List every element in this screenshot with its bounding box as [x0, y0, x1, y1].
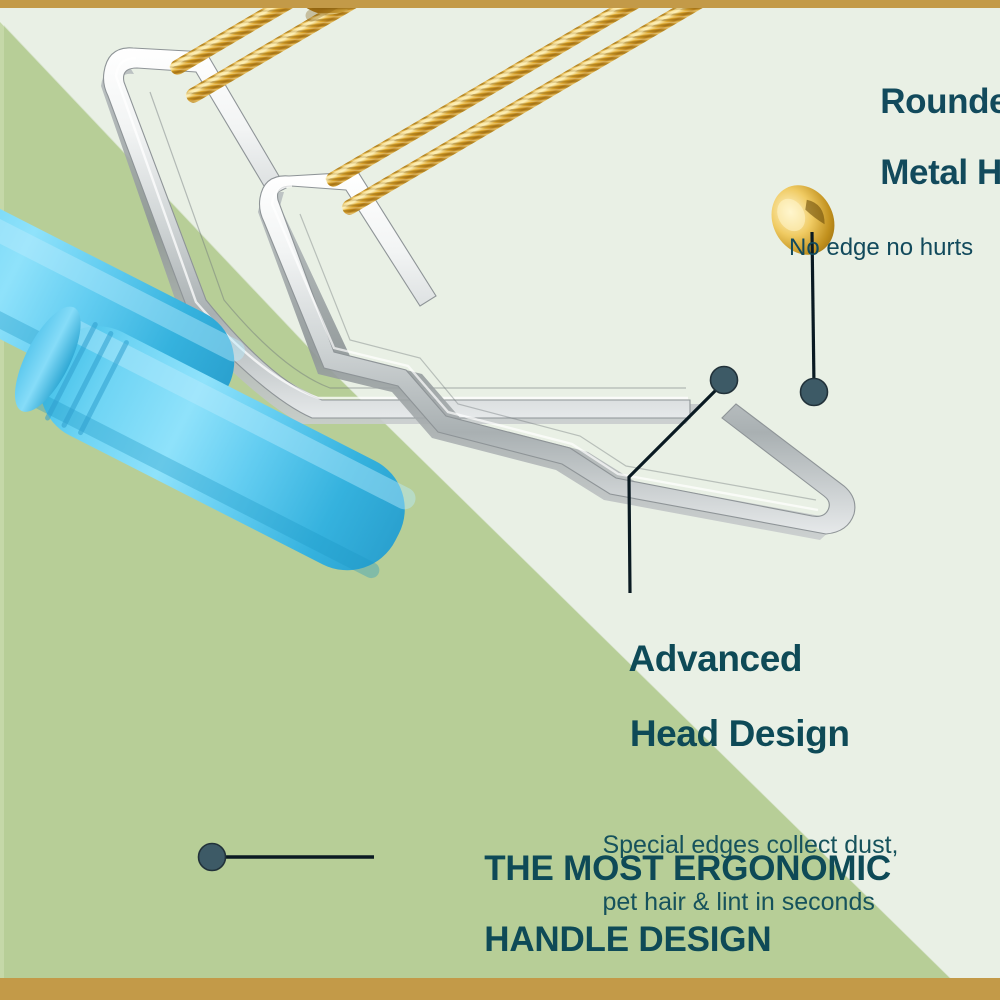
callout-dot-advanced-head-design [711, 367, 738, 394]
callout-dot-ergonomic-handle-design [199, 844, 226, 871]
border-bottom-gold [0, 978, 1000, 1000]
callout-dot-rounded-metal-head [801, 379, 828, 406]
artboard: Rounded Metal Head No edge no hurts Adva… [0, 0, 1000, 1000]
product-illustration [0, 0, 1000, 1000]
infographic-canvas: Rounded Metal Head No edge no hurts Adva… [0, 0, 1000, 1000]
border-top-gold [0, 0, 1000, 8]
